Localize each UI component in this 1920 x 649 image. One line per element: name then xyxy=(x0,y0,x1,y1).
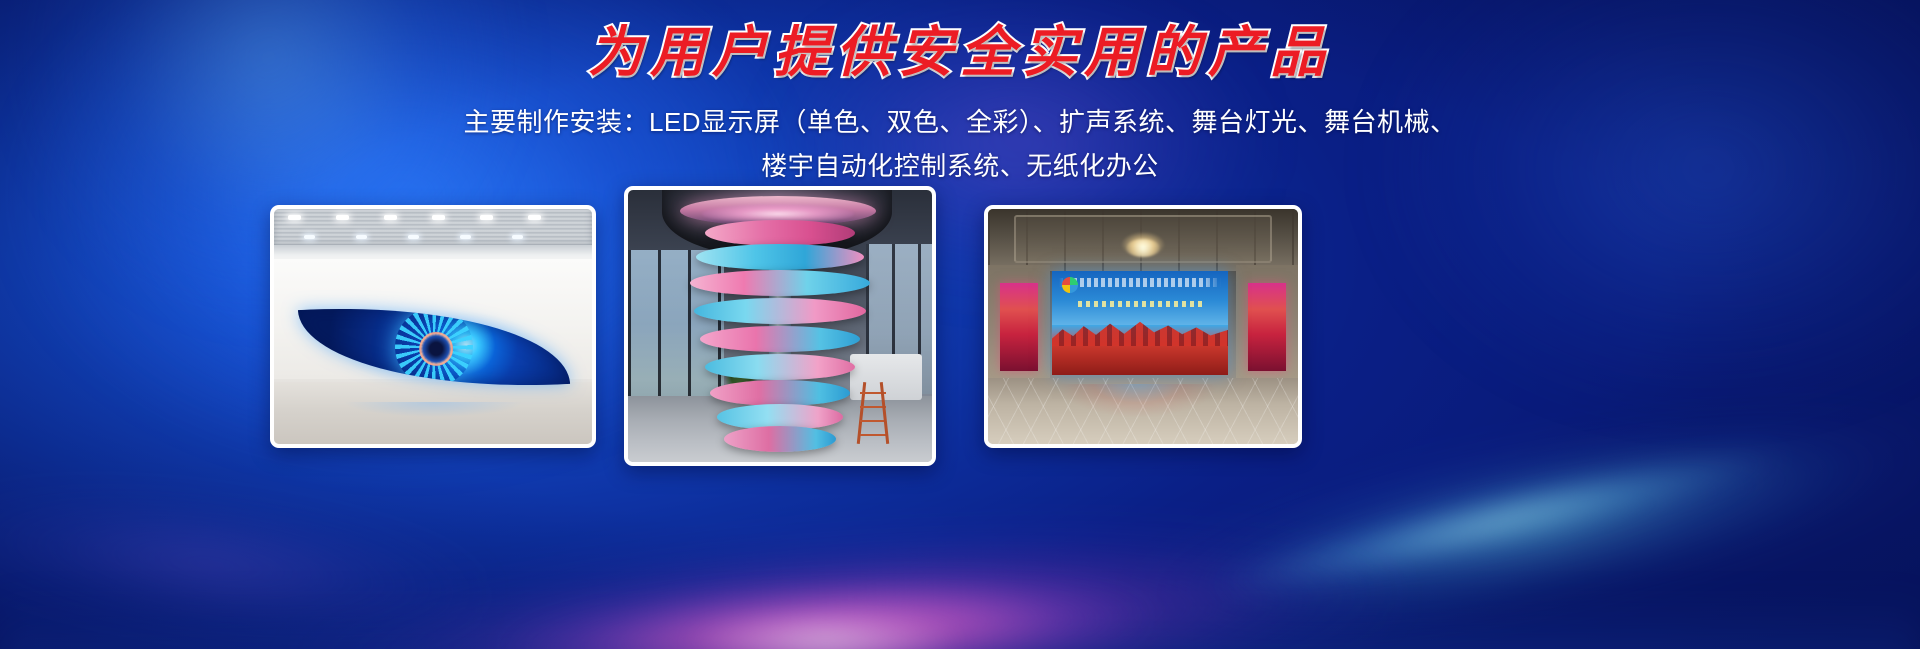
promo-banner: 为用户提供安全实用的产品 主要制作安装：LED显示屏（单色、双色、全彩）、扩声系… xyxy=(0,0,1920,649)
page-title: 为用户提供安全实用的产品 xyxy=(0,22,1920,83)
subtitle-line-2: 楼宇自动化控制系统、无纸化办公 xyxy=(0,144,1920,188)
banner-text-content: 为用户提供安全实用的产品 主要制作安装：LED显示屏（单色、双色、全彩）、扩声系… xyxy=(0,0,1920,649)
banner-subtitle: 主要制作安装：LED显示屏（单色、双色、全彩）、扩声系统、舞台灯光、舞台机械、 … xyxy=(0,100,1920,188)
subtitle-line-1: 主要制作安装：LED显示屏（单色、双色、全彩）、扩声系统、舞台灯光、舞台机械、 xyxy=(0,100,1920,144)
